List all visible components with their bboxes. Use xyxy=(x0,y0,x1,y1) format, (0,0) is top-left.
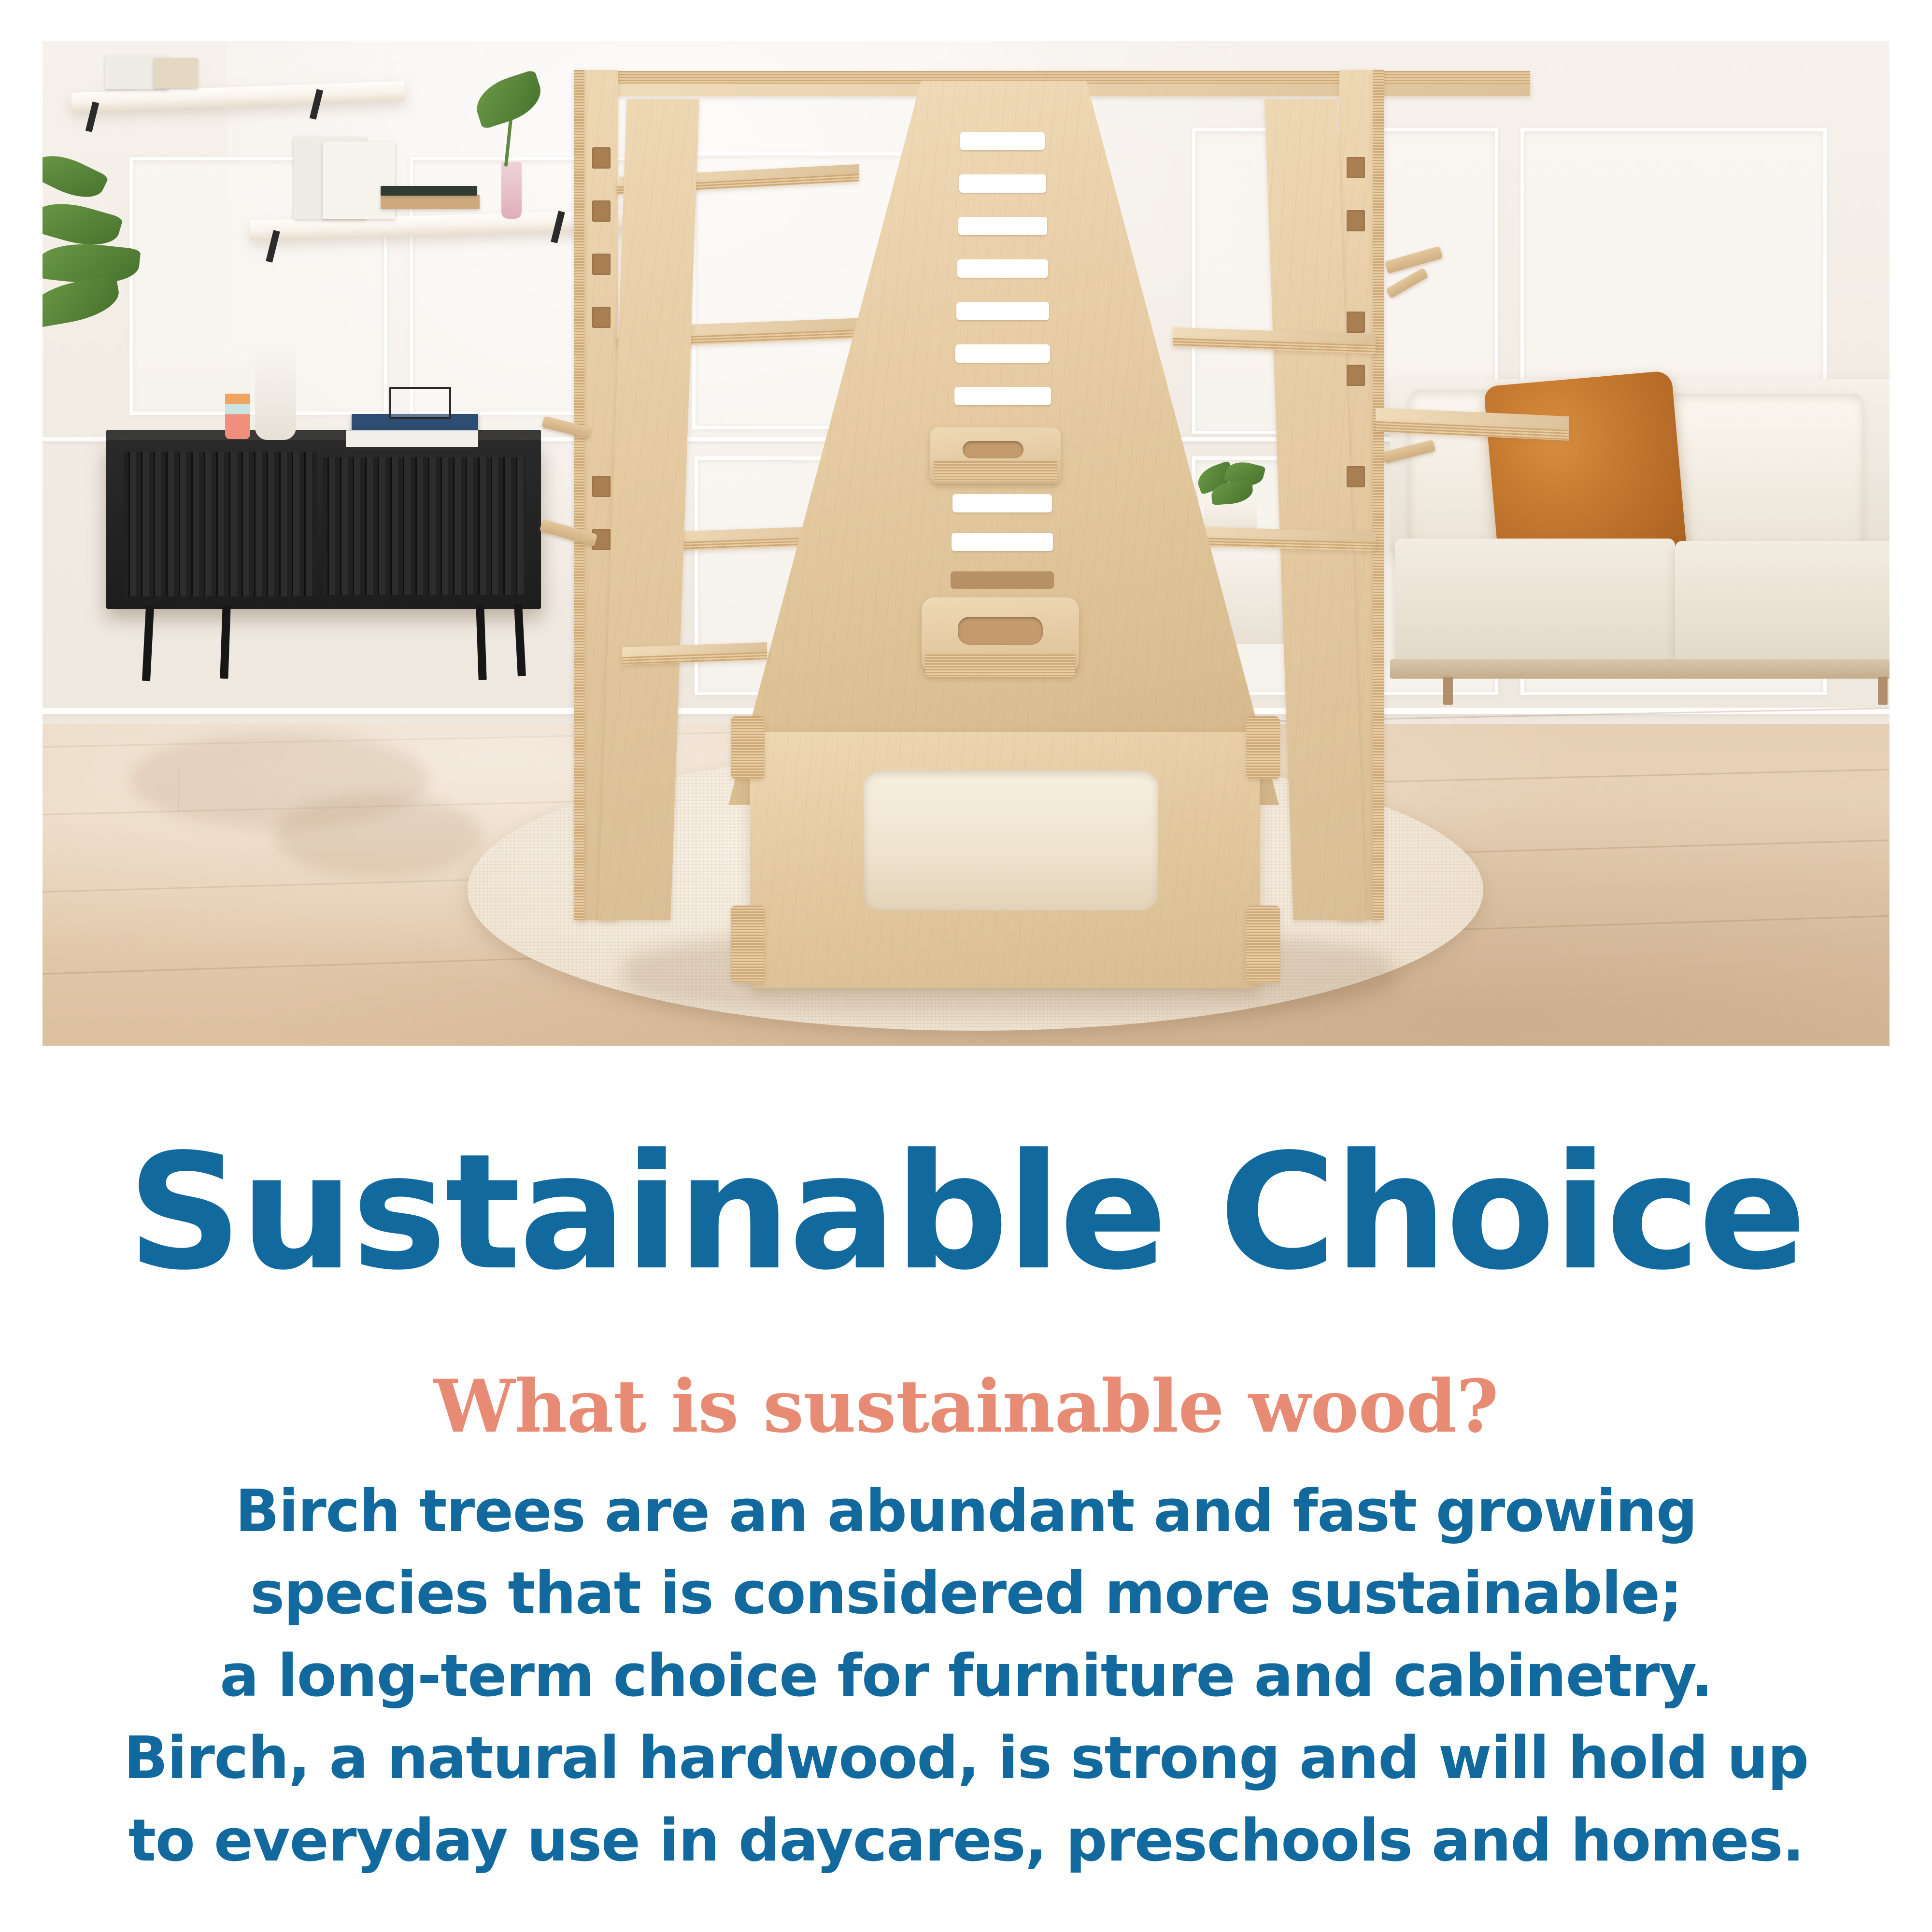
step-grip-hole-large xyxy=(958,617,1043,645)
white-book xyxy=(346,430,478,447)
post-slot xyxy=(1347,210,1365,231)
post-slot xyxy=(1347,312,1365,333)
ladder-rung xyxy=(955,344,1050,363)
base-panel-window xyxy=(864,770,1158,910)
ladder-rung xyxy=(957,259,1048,278)
step-ply-edge-lower xyxy=(925,654,1075,677)
sofa-seat-cushion xyxy=(1675,541,1889,664)
post-slot xyxy=(592,307,611,328)
ladder-rung xyxy=(960,132,1045,150)
shelf-books-flat xyxy=(381,186,477,196)
body-line: Birch, a natural hardwood, is strong and… xyxy=(0,1718,1932,1800)
body-copy: Birch trees are an abundant and fast gro… xyxy=(0,1443,1932,1882)
step-ply-edge-upper xyxy=(934,461,1057,481)
structure-foot-right xyxy=(1246,716,1280,779)
ribbed-vase xyxy=(255,345,296,440)
sideboard-door-left xyxy=(124,452,317,597)
glass-terrarium xyxy=(389,387,451,419)
post-slot xyxy=(592,254,611,275)
sofa-leg xyxy=(1443,677,1453,705)
structure-foot-left xyxy=(731,906,765,983)
body-line: to everyday use in daycares, preschools … xyxy=(0,1800,1932,1882)
post-slot xyxy=(592,476,611,497)
structure-foot-left xyxy=(731,716,765,779)
striped-vase xyxy=(225,366,250,439)
ladder-rung-shadowed xyxy=(951,571,1054,589)
structure-right-post-edge xyxy=(1373,70,1384,920)
structure-foot-right xyxy=(1246,906,1280,983)
body-line: a long-term choice for furniture and cab… xyxy=(0,1635,1932,1718)
page-title: Sustainable Choice xyxy=(0,1087,1932,1292)
page-root: Sustainable Choice What is sustainable w… xyxy=(0,0,1932,1932)
leaf-shadow xyxy=(274,795,482,877)
ladder-rung xyxy=(956,302,1049,320)
step-grip-hole xyxy=(963,441,1023,458)
post-slot xyxy=(1347,157,1365,178)
structure-left-post-edge xyxy=(574,70,584,920)
section-subtitle: What is sustainable wood? xyxy=(0,1292,1932,1443)
sofa-leg xyxy=(1878,677,1888,705)
post-slot xyxy=(1347,365,1365,386)
sideboard-door-right xyxy=(323,457,526,595)
hero-photo xyxy=(43,41,1889,1046)
post-slot xyxy=(1347,466,1365,487)
shelf-books-flat xyxy=(381,195,480,209)
ladder-rung xyxy=(952,494,1052,512)
shelf-books-upper xyxy=(154,58,198,88)
ladder-rung xyxy=(952,533,1053,551)
sofa-base-rail xyxy=(1390,659,1889,679)
pink-glass-vase xyxy=(501,162,522,219)
post-slot xyxy=(592,147,611,169)
ladder-rung xyxy=(958,217,1047,235)
ladder-rung xyxy=(959,174,1046,193)
text-section: Sustainable Choice What is sustainable w… xyxy=(0,1087,1932,1882)
body-line: species that is considered more sustaina… xyxy=(0,1553,1932,1635)
ladder-rung xyxy=(954,387,1051,405)
post-slot xyxy=(592,200,611,222)
body-line: Birch trees are an abundant and fast gro… xyxy=(0,1471,1932,1553)
sofa-seat-cushion xyxy=(1395,539,1675,664)
